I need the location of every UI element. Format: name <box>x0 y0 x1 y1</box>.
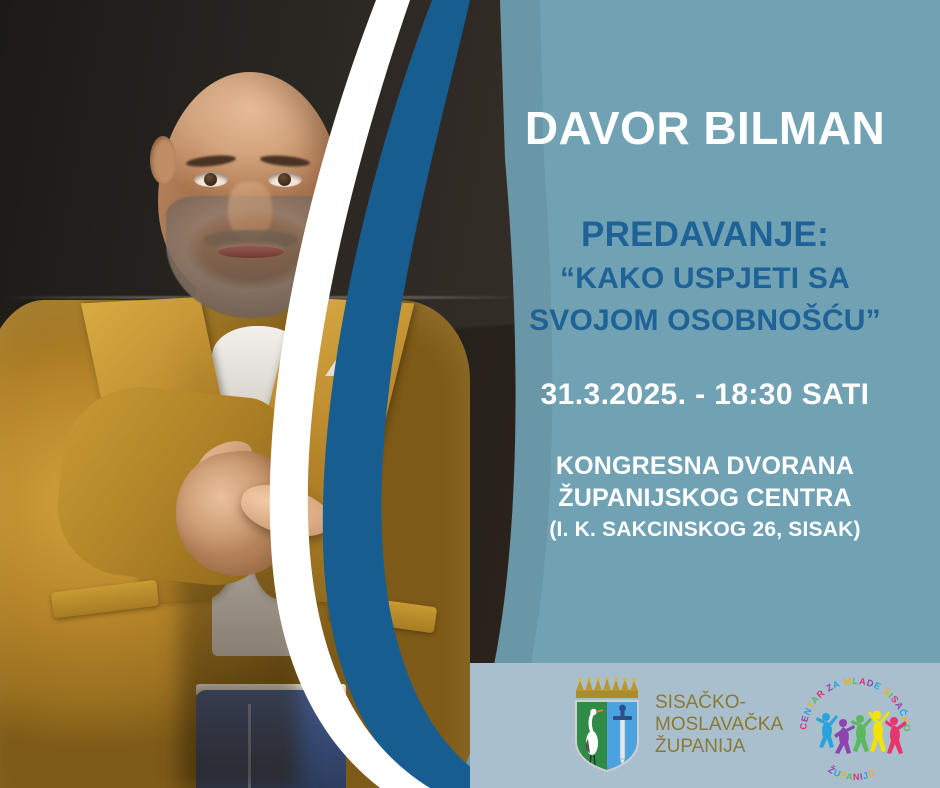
event-title-line-1: “KAKO USPJETI SA <box>470 261 940 297</box>
event-label: PREDAVANJE: <box>470 215 940 255</box>
figure-pink <box>885 717 907 754</box>
crown-icon <box>576 677 638 698</box>
county-name-line-2: MOSLAVAČKA <box>655 714 783 736</box>
figure-yellow <box>868 711 890 752</box>
event-title-line-2: SVOJOM OSOBNOŠĆU” <box>470 303 940 339</box>
county-name-line-1: SISAČKO- <box>655 692 783 714</box>
youth-logo-arc-bottom: ŽUPANIJE <box>826 763 877 782</box>
youth-center-logo: CENTAR ZA MLADE SISAČKO-MOSLAVAČKE ŽUPAN… <box>792 671 918 783</box>
logo-band: SISAČKO- MOSLAVAČKA ŽUPANIJA CENTAR ZA M… <box>470 663 940 788</box>
venue-line-2: ŽUPANIJSKOG CENTRA <box>470 482 940 514</box>
event-datetime: 31.3.2025. - 18:30 SATI <box>470 378 940 412</box>
county-name-line-3: ŽUPANIJA <box>655 736 783 758</box>
event-subtitle-block: PREDAVANJE: “KAKO USPJETI SA SVOJOM OSOB… <box>470 215 940 339</box>
figure-green <box>851 715 872 752</box>
event-poster: DAVOR BILMAN PREDAVANJE: “KAKO USPJETI S… <box>0 0 940 788</box>
county-logo: SISAČKO- MOSLAVAČKA ŽUPANIJA <box>570 677 783 773</box>
event-venue: KONGRESNA DVORANA ŽUPANIJSKOG CENTRA (I.… <box>470 450 940 544</box>
venue-line-1: KONGRESNA DVORANA <box>470 450 940 482</box>
venue-line-3: (I. K. SAKCINSKOG 26, SISAK) <box>470 516 940 544</box>
dancing-figures-icon <box>816 711 907 754</box>
coat-of-arms-icon <box>570 677 644 773</box>
figure-blue <box>816 713 838 748</box>
page-title: DAVOR BILMAN <box>470 104 940 152</box>
figure-purple <box>834 719 855 754</box>
county-name: SISAČKO- MOSLAVAČKA ŽUPANIJA <box>655 692 783 758</box>
